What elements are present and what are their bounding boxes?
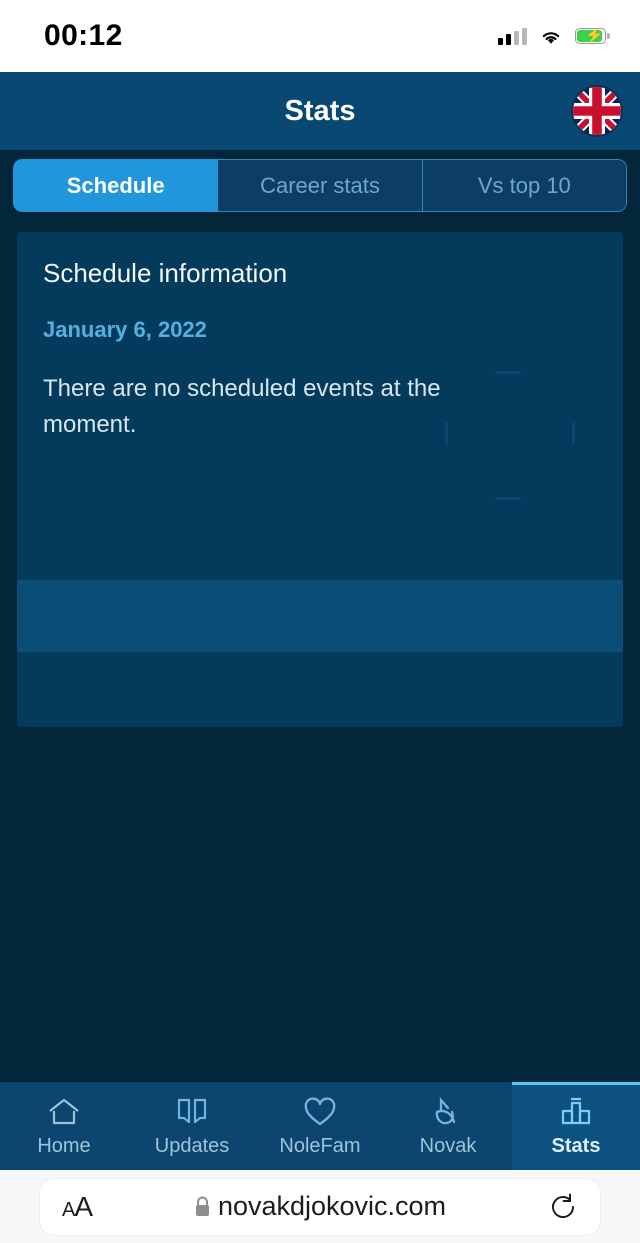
wifi-icon — [540, 28, 562, 45]
nav-item-novak[interactable]: Novak — [384, 1082, 512, 1170]
nav-item-updates[interactable]: Updates — [128, 1082, 256, 1170]
card-title: Schedule information — [43, 258, 597, 289]
card-empty-message: There are no scheduled events at the mom… — [43, 371, 443, 443]
nav-item-stats[interactable]: Stats — [512, 1082, 640, 1170]
status-bar-clock: 00:12 — [44, 19, 123, 53]
nav-item-home[interactable]: Home — [0, 1082, 128, 1170]
nav-item-novak-label: Novak — [420, 1135, 477, 1158]
safari-bottom-bar: AA novakdjokovic.com — [0, 1170, 640, 1243]
nav-item-updates-label: Updates — [155, 1135, 230, 1158]
tab-vs-top-10-label: Vs top 10 — [478, 173, 571, 199]
signal-icon — [498, 28, 527, 45]
card-date: January 6, 2022 — [43, 317, 597, 343]
url-display: novakdjokovic.com — [40, 1191, 600, 1222]
nav-item-stats-label: Stats — [552, 1135, 601, 1158]
book-icon — [176, 1094, 208, 1130]
battery-charging-icon: ⚡ — [575, 28, 606, 44]
page-title: Stats — [285, 95, 356, 128]
card-row-highlighted — [17, 580, 623, 652]
reload-icon[interactable] — [548, 1192, 578, 1222]
nav-item-home-label: Home — [37, 1135, 90, 1158]
tab-career-stats[interactable]: Career stats — [218, 159, 422, 212]
nd-logo-icon — [431, 1094, 465, 1130]
heart-icon — [303, 1094, 337, 1130]
uk-flag-icon[interactable] — [571, 85, 623, 137]
stats-tab-bar: Schedule Career stats Vs top 10 — [13, 159, 627, 212]
url-text: novakdjokovic.com — [218, 1191, 446, 1222]
nav-item-nolefam-label: NoleFam — [279, 1135, 360, 1158]
card-row-empty — [17, 652, 623, 727]
web-app-viewport: Stats Schedule Career stats Vs top 10 — [0, 72, 640, 1170]
tab-career-stats-label: Career stats — [260, 173, 380, 199]
tab-vs-top-10[interactable]: Vs top 10 — [423, 159, 627, 212]
nav-item-nolefam[interactable]: NoleFam — [256, 1082, 384, 1170]
schedule-information-card: Schedule information January 6, 2022 The… — [17, 232, 623, 727]
bottom-navigation: Home Updates NoleFam — [0, 1082, 640, 1170]
text-size-button[interactable]: AA — [62, 1191, 92, 1223]
tab-schedule[interactable]: Schedule — [13, 159, 218, 212]
lock-icon — [194, 1196, 211, 1217]
placeholder-mark-bottom — [495, 497, 521, 500]
bar-chart-icon — [559, 1094, 593, 1130]
card-content: Schedule information January 6, 2022 The… — [17, 232, 623, 443]
tab-schedule-label: Schedule — [67, 173, 165, 199]
home-icon — [47, 1094, 81, 1130]
ios-status-bar: 00:12 ⚡ — [0, 0, 640, 72]
app-header: Stats — [0, 72, 640, 150]
status-bar-icons: ⚡ — [498, 28, 606, 45]
url-bar[interactable]: AA novakdjokovic.com — [40, 1179, 600, 1235]
